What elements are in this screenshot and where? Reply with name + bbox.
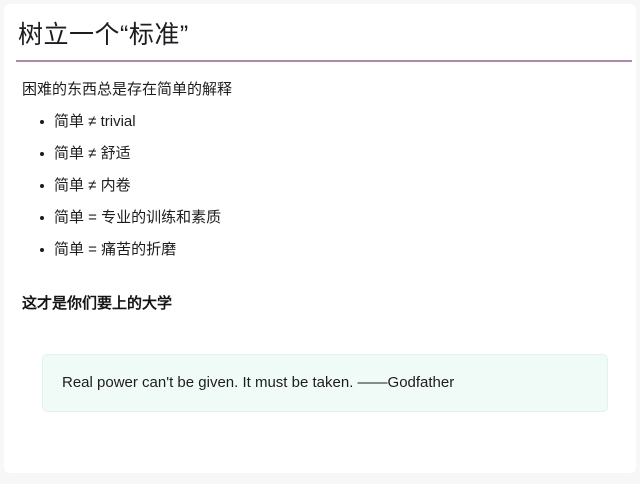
quote-text: Real power can't be given. It must be ta… xyxy=(43,372,454,394)
page-title: 树立一个“标准” xyxy=(18,18,189,52)
bullet-dot-icon xyxy=(40,216,44,220)
list-item: 简单 = 专业的训练和素质 xyxy=(22,208,582,228)
title-underline-rule xyxy=(16,60,632,62)
bullet-dot-icon xyxy=(40,248,44,252)
bullet-dot-icon xyxy=(40,120,44,124)
bullet-dot-icon xyxy=(40,152,44,156)
quote-callout-box: Real power can't be given. It must be ta… xyxy=(42,354,608,412)
list-item: 简单 ≠ 内卷 xyxy=(22,176,582,196)
list-item-label: 简单 ≠ trivial xyxy=(54,113,136,130)
list-item-label: 简单 = 专业的训练和素质 xyxy=(54,209,221,226)
bullet-list: 简单 ≠ trivial 简单 ≠ 舒适 简单 ≠ 内卷 简单 = 专业的训练和… xyxy=(22,112,582,272)
bullet-dot-icon xyxy=(40,184,44,188)
list-item: 简单 = 痛苦的折磨 xyxy=(22,240,582,260)
list-item-label: 简单 = 痛苦的折磨 xyxy=(54,241,176,258)
list-item: 简单 ≠ 舒适 xyxy=(22,144,582,164)
lead-paragraph: 困难的东西总是存在简单的解释 xyxy=(22,78,232,102)
list-item: 简单 ≠ trivial xyxy=(22,112,582,132)
list-item-label: 简单 ≠ 内卷 xyxy=(54,177,131,194)
list-item-label: 简单 ≠ 舒适 xyxy=(54,145,131,162)
emphasis-line: 这才是你们要上的大学 xyxy=(22,292,172,316)
slide-card: 树立一个“标准” 困难的东西总是存在简单的解释 简单 ≠ trivial 简单 … xyxy=(4,4,636,473)
